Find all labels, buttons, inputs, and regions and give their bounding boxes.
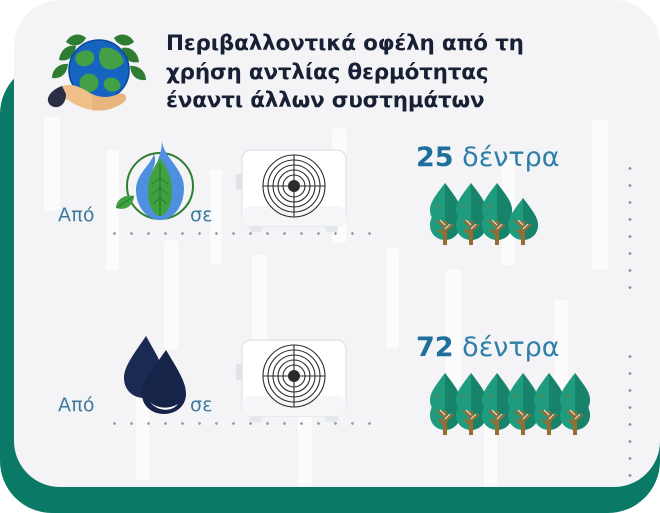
tree-count-unit: δέντρα [462, 332, 559, 363]
tree-count-unit: δέντρα [462, 142, 559, 173]
tree-count-gas: 25 δέντρα [416, 142, 560, 173]
oil-droplets-icon [110, 324, 206, 420]
dotted-arc-decoration [610, 348, 650, 478]
dotted-arc-decoration [610, 160, 650, 290]
tree-count-number: 25 [416, 142, 454, 173]
page-title: Περιβαλλοντικά οφέλη από τη χρήση αντλία… [166, 30, 556, 116]
tree-group-oil [416, 372, 606, 442]
heat-pump-unit-icon [228, 336, 358, 428]
tree-icon [558, 387, 592, 435]
infographic-card: Περιβαλλοντικά οφέλη από τη χρήση αντλία… [14, 0, 660, 487]
comparison-row-gas: Από σε [14, 130, 660, 260]
heat-pump-unit-icon [228, 146, 358, 238]
from-label: Από [58, 204, 95, 226]
tree-group-gas [416, 182, 606, 252]
comparison-row-oil: Από σε [14, 320, 660, 450]
from-label: Από [58, 394, 95, 416]
hand-holding-earth-icon [38, 24, 158, 116]
gas-flame-leaf-icon [110, 134, 206, 230]
tree-icon [506, 197, 540, 245]
tree-count-number: 72 [416, 332, 454, 363]
tree-count-oil: 72 δέντρα [416, 332, 560, 363]
